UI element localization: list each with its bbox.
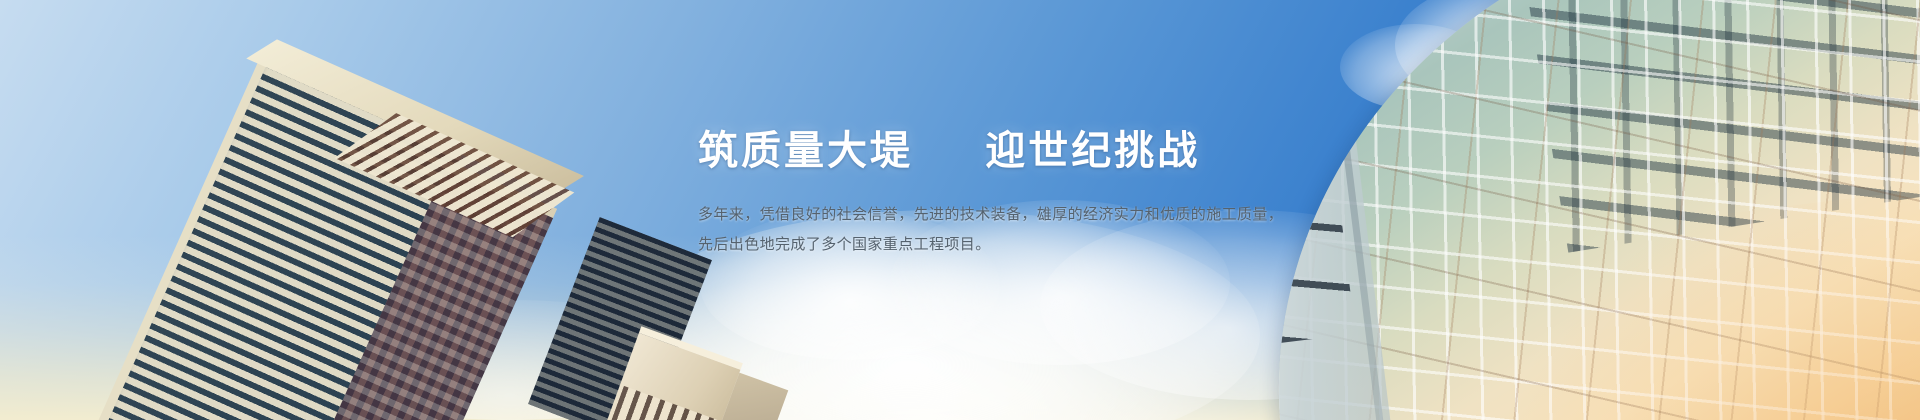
headline-part-2: 迎世纪挑战 (985, 129, 1200, 173)
banner-headline: 筑质量大堤 迎世纪挑战 (698, 128, 1338, 174)
banner-subtitle: 多年来，凭借良好的社会信誉，先进的技术装备，雄厚的经济实力和优质的施工质量， 先… (698, 200, 1310, 260)
subtitle-line-2: 先后出色地完成了多个国家重点工程项目。 (698, 230, 1310, 260)
subtitle-line-1: 多年来，凭借良好的社会信誉，先进的技术装备，雄厚的经济实力和优质的施工质量， (698, 200, 1310, 230)
banner-copy: 筑质量大堤 迎世纪挑战 多年来，凭借良好的社会信誉，先进的技术装备，雄厚的经济实… (698, 128, 1338, 260)
headline-part-1: 筑质量大堤 (698, 129, 913, 173)
hero-banner: 筑质量大堤 迎世纪挑战 多年来，凭借良好的社会信誉，先进的技术装备，雄厚的经济实… (0, 0, 1920, 420)
